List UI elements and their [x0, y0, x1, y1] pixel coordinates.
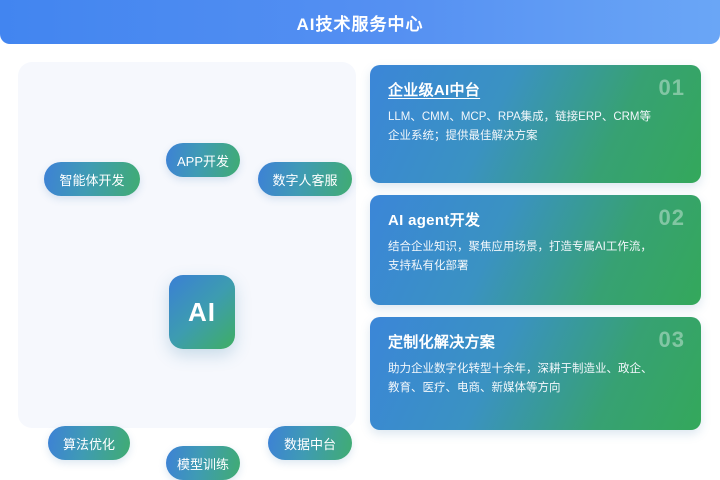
capability-bubble-data-platform[interactable]: 数据中台 — [268, 426, 352, 460]
capability-bubble-algorithm-optimization[interactable]: 算法优化 — [48, 426, 130, 460]
service-card[interactable]: 02 AI agent开发 结合企业知识，聚焦应用场景，打造专属AI工作流，支持… — [370, 195, 701, 305]
bubble-label: 模型训练 — [177, 454, 229, 473]
capability-bubble-app-development[interactable]: APP开发 — [166, 143, 240, 177]
card-title: AI agent开发 — [388, 209, 683, 230]
capability-bubble-model-training[interactable]: 模型训练 — [166, 446, 240, 480]
capability-bubble-intelligent-agent[interactable]: 智能体开发 — [44, 162, 140, 196]
card-title: 定制化解决方案 — [388, 331, 683, 352]
bubble-label: 数字人客服 — [272, 170, 337, 189]
service-card-list: 01 企业级AI中台 LLM、CMM、MCP、RPA集成，链接ERP、CRM等企… — [370, 65, 701, 430]
capability-panel: 智能体开发 APP开发 数字人客服 AI 算法优化 模型训练 数据中台 — [18, 62, 356, 428]
page-header: AI技术服务中心 — [0, 0, 720, 44]
ai-core-node[interactable]: AI — [169, 275, 235, 349]
card-description: 结合企业知识，聚焦应用场景，打造专属AI工作流，支持私有化部署 — [388, 238, 660, 276]
card-index-badge: 02 — [659, 205, 685, 231]
card-description: 助力企业数字化转型十余年，深耕于制造业、政企、教育、医疗、电商、新媒体等方向 — [388, 360, 660, 398]
card-index-badge: 03 — [659, 327, 685, 353]
card-title: 企业级AI中台 — [388, 79, 683, 100]
card-description: LLM、CMM、MCP、RPA集成，链接ERP、CRM等企业系统；提供最佳解决方… — [388, 108, 660, 146]
bubble-label: APP开发 — [177, 151, 229, 170]
page-title: AI技术服务中心 — [297, 10, 424, 35]
bubble-label: 智能体开发 — [59, 170, 124, 189]
service-card[interactable]: 01 企业级AI中台 LLM、CMM、MCP、RPA集成，链接ERP、CRM等企… — [370, 65, 701, 183]
capability-bubble-digital-human-service[interactable]: 数字人客服 — [258, 162, 352, 196]
ai-core-label: AI — [188, 297, 216, 328]
service-card[interactable]: 03 定制化解决方案 助力企业数字化转型十余年，深耕于制造业、政企、教育、医疗、… — [370, 317, 701, 430]
card-index-badge: 01 — [659, 75, 685, 101]
